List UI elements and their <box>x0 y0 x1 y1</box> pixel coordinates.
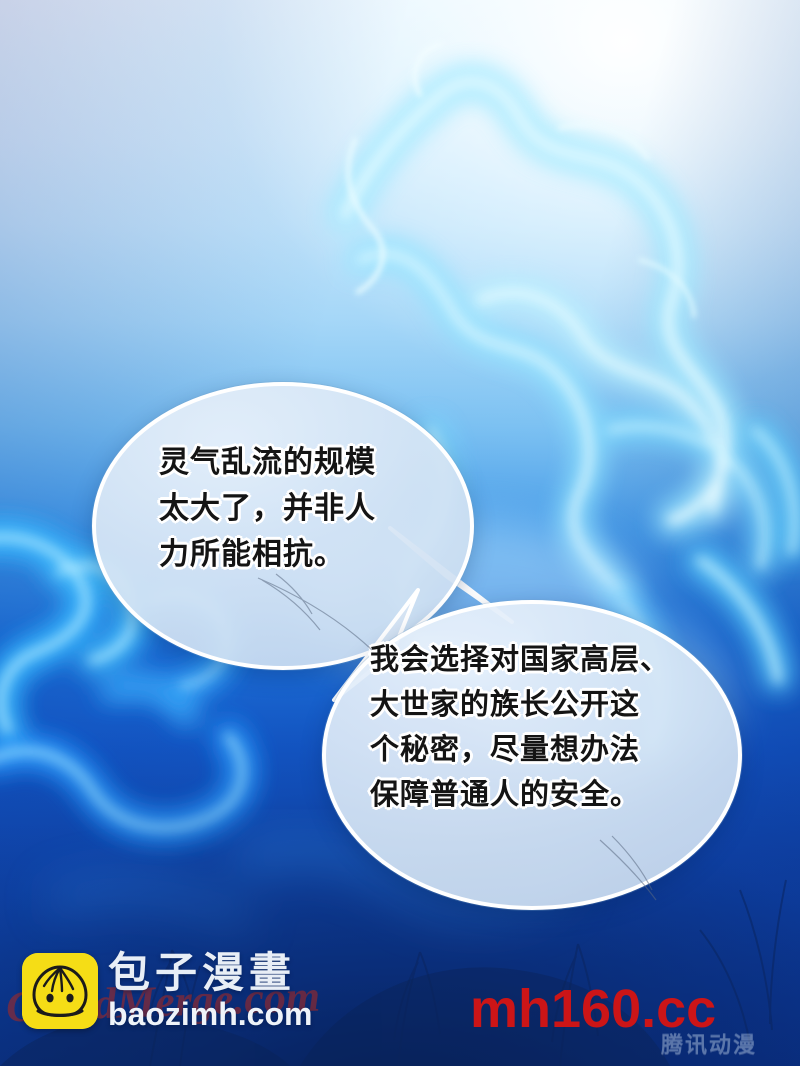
watermark-tencent: 腾讯动漫 <box>661 1027 757 1059</box>
baozi-url: baozimh.com <box>108 998 312 1030</box>
speech-bubble-1-text: 灵气乱流的规模 太大了，并非人 力所能相抗。 <box>159 440 429 578</box>
baozi-wordmark: 包子漫畫 baozimh.com <box>108 952 312 1030</box>
comic-panel: 灵气乱流的规模 太大了，并非人 力所能相抗。 我会选择对国家高层、 大世家的族长… <box>0 0 800 1066</box>
baozi-brand-cn: 包子漫畫 <box>108 952 312 994</box>
baozi-bun-icon <box>22 953 98 1029</box>
speech-bubble-2-text: 我会选择对国家高层、 大世家的族长公开这 个秘密，尽量想办法 保障普通人的安全。 <box>370 638 720 818</box>
watermark-baozimh: 包子漫畫 baozimh.com <box>22 952 312 1030</box>
speech-bubble-2: 我会选择对国家高层、 大世家的族长公开这 个秘密，尽量想办法 保障普通人的安全。 <box>322 600 742 910</box>
